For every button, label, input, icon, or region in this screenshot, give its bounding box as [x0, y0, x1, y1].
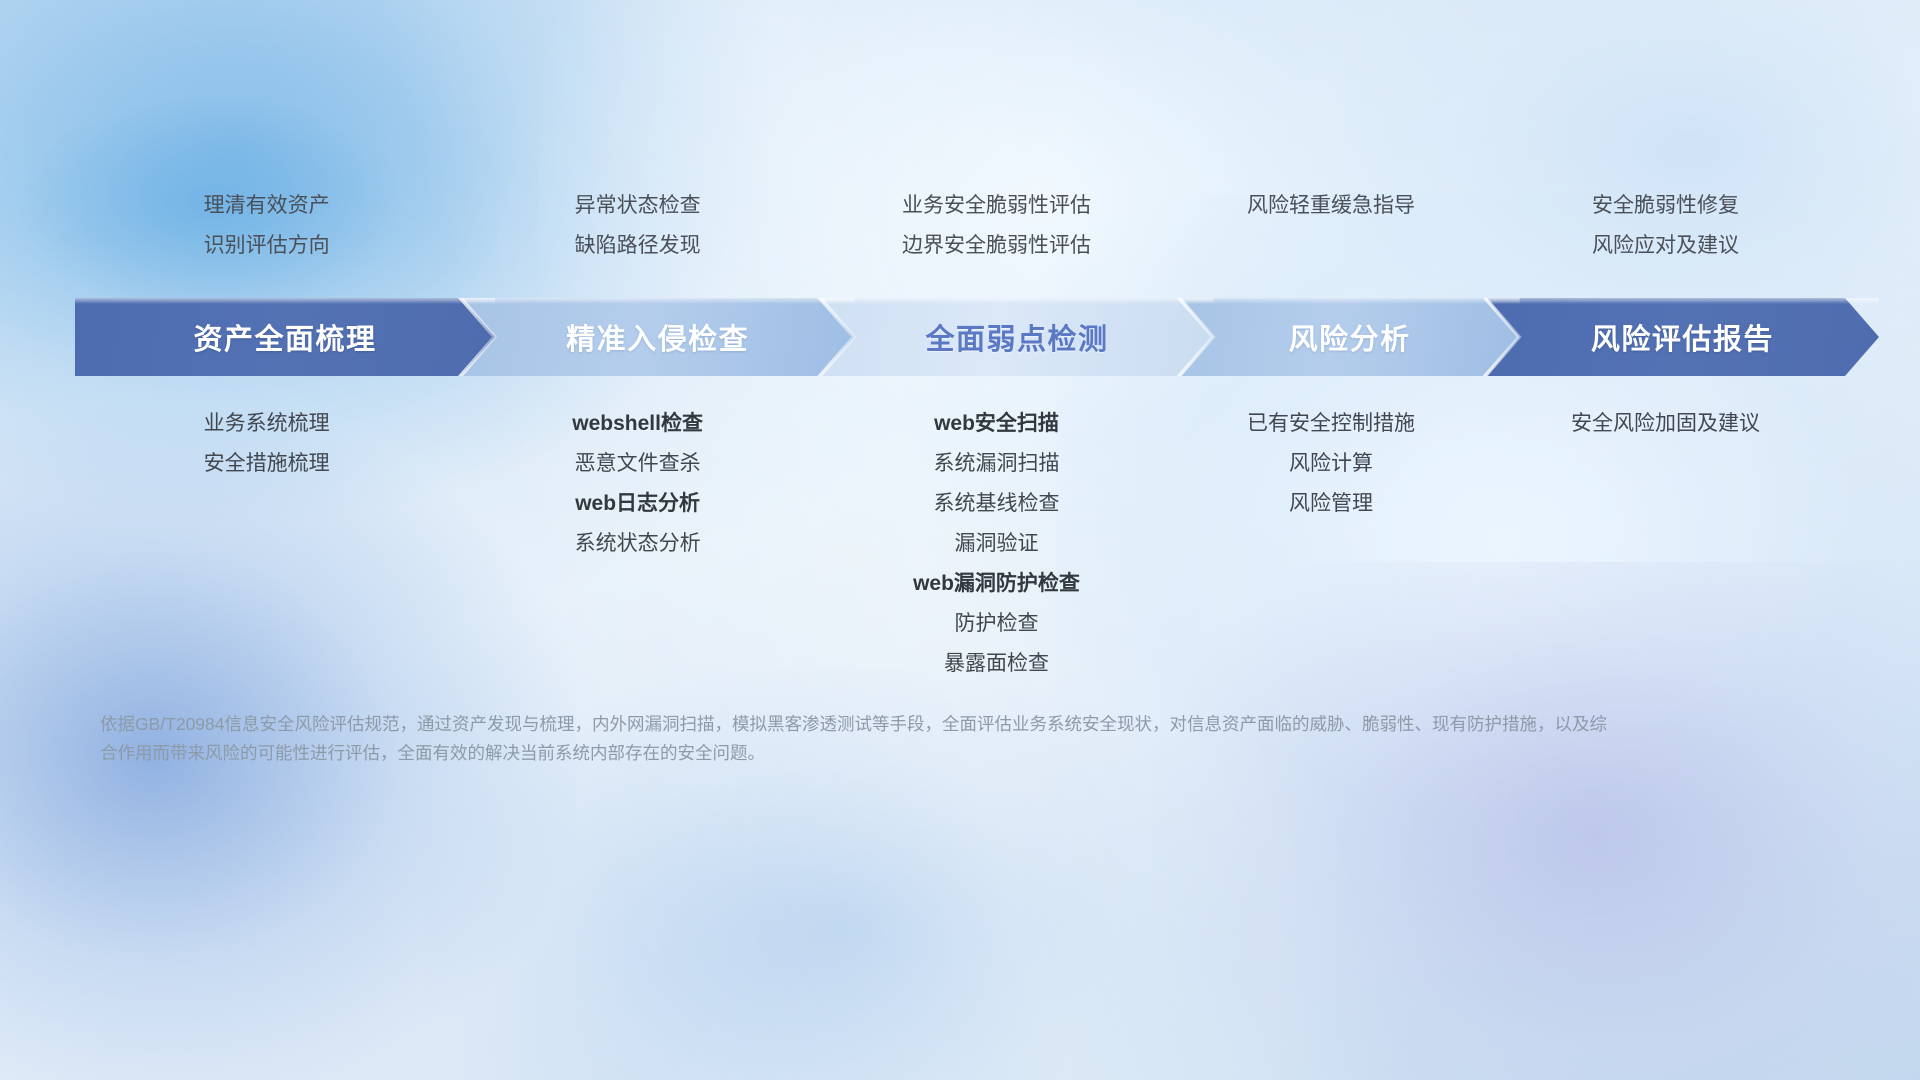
stage-activity-item: 安全风险加固及建议 [1571, 404, 1760, 444]
stage-label: 风险分析 [1180, 316, 1520, 358]
stage-output-item: 风险轻重缓急指导 [1247, 186, 1415, 226]
stage-output-item: 边界安全脆弱性评估 [902, 226, 1091, 266]
stage-activities-1: 业务系统梳理安全措施梳理 [75, 404, 458, 484]
stage-label: 风险评估报告 [1486, 316, 1879, 358]
chevron-gloss [1180, 298, 1520, 304]
chevron-gloss [1486, 298, 1879, 304]
stage-activities-row: 业务系统梳理安全措施梳理webshell检查恶意文件查杀web日志分析系统状态分… [75, 404, 1845, 694]
process-chevron-banner: 资产全面梳理精准入侵检查全面弱点检测风险分析风险评估报告 [75, 298, 1845, 376]
stage-chevron-3[interactable]: 全面弱点检测 [820, 298, 1213, 376]
stage-outputs-1: 理清有效资产识别评估方向 [75, 186, 458, 266]
chevron-gloss [820, 298, 1213, 304]
chevron-gloss [75, 298, 495, 304]
stage-output-item: 风险应对及建议 [1592, 226, 1739, 266]
description-paragraph: 依据GB/T20984信息安全风险评估规范，通过资产发现与梳理，内外网漏洞扫描，… [100, 710, 1610, 768]
stage-activity-item: 安全措施梳理 [204, 444, 330, 484]
stage-output-item: 异常状态检查 [575, 186, 701, 226]
stage-output-item: 缺陷路径发现 [575, 226, 701, 266]
stage-activities-3: web安全扫描系统漏洞扫描系统基线检查漏洞验证web漏洞防护检查防护检查暴露面检… [817, 404, 1176, 684]
stage-outputs-3: 业务安全脆弱性评估边界安全脆弱性评估 [817, 186, 1176, 266]
stage-activity-item: 系统状态分析 [575, 524, 701, 564]
stage-activity-item: 漏洞验证 [954, 524, 1038, 564]
stage-output-item: 理清有效资产 [204, 186, 330, 226]
stage-activity-item: web安全扫描 [934, 404, 1059, 444]
stage-activities-5: 安全风险加固及建议 [1486, 404, 1845, 444]
chevron-gloss [461, 298, 854, 304]
stage-activity-item: 风险管理 [1289, 484, 1373, 524]
stage-chevron-1[interactable]: 资产全面梳理 [75, 298, 495, 376]
stage-activity-item: 暴露面检查 [944, 644, 1049, 684]
stage-activity-item: 防护检查 [954, 604, 1038, 644]
stage-outputs-row: 理清有效资产识别评估方向异常状态检查缺陷路径发现业务安全脆弱性评估边界安全脆弱性… [75, 186, 1845, 292]
stage-activity-item: web日志分析 [575, 484, 700, 524]
stage-label: 精准入侵检查 [461, 316, 854, 358]
stage-outputs-4: 风险轻重缓急指导 [1176, 186, 1486, 226]
stage-activity-item: 业务系统梳理 [204, 404, 330, 444]
stage-activity-item: web漏洞防护检查 [913, 564, 1080, 604]
stage-label: 全面弱点检测 [820, 316, 1213, 358]
stage-activity-item: 已有安全控制措施 [1247, 404, 1415, 444]
stage-output-item: 业务安全脆弱性评估 [902, 186, 1091, 226]
stage-chevron-4[interactable]: 风险分析 [1180, 298, 1520, 376]
stage-activity-item: webshell检查 [572, 404, 703, 444]
stage-chevron-5[interactable]: 风险评估报告 [1486, 298, 1879, 376]
stage-outputs-2: 异常状态检查缺陷路径发现 [458, 186, 817, 266]
stage-activities-2: webshell检查恶意文件查杀web日志分析系统状态分析 [458, 404, 817, 564]
stage-activity-item: 恶意文件查杀 [575, 444, 701, 484]
stage-activity-item: 风险计算 [1289, 444, 1373, 484]
stage-output-item: 安全脆弱性修复 [1592, 186, 1739, 226]
stage-outputs-5: 安全脆弱性修复风险应对及建议 [1486, 186, 1845, 266]
stage-label: 资产全面梳理 [75, 316, 495, 358]
stage-activities-4: 已有安全控制措施风险计算风险管理 [1176, 404, 1486, 524]
stage-output-item: 识别评估方向 [204, 226, 330, 266]
stage-activity-item: 系统漏洞扫描 [933, 444, 1059, 484]
stage-chevron-2[interactable]: 精准入侵检查 [461, 298, 854, 376]
stage-activity-item: 系统基线检查 [933, 484, 1059, 524]
